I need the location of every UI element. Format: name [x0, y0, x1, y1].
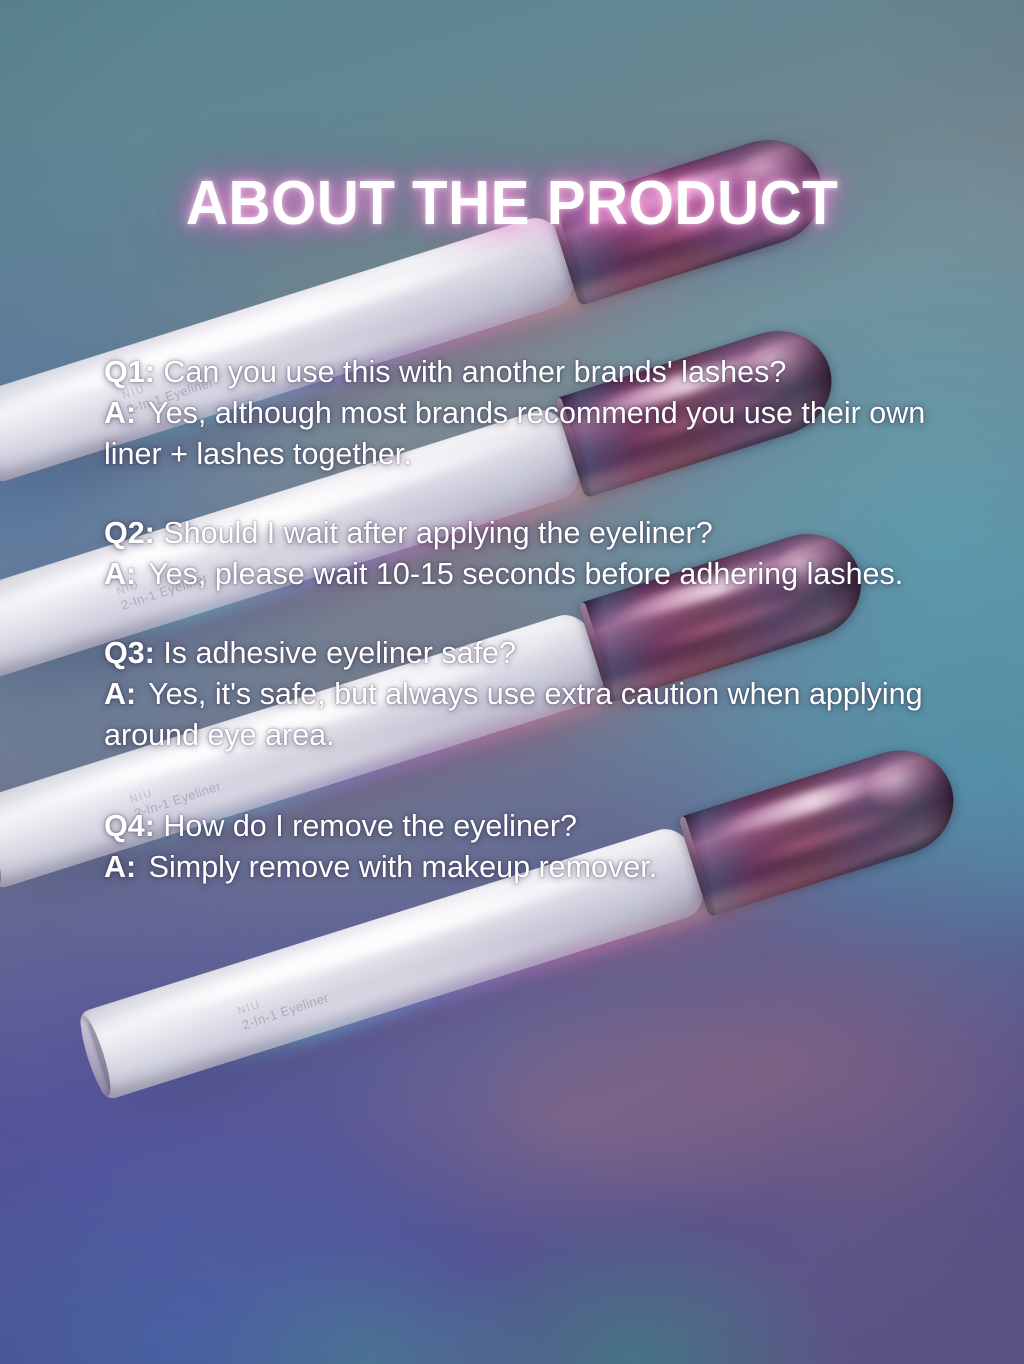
product-brand-text: NIU	[236, 978, 326, 1018]
barrel-seam	[0, 809, 2, 879]
faq-question-line: Q1: Can you use this with another brands…	[104, 352, 946, 393]
faq-answer-label: A:	[104, 557, 136, 591]
faq-list: Q1: Can you use this with another brands…	[104, 352, 946, 888]
barrel-end-cap	[0, 802, 6, 887]
barrel-highlight-lower	[158, 907, 638, 1069]
faq-answer-line: A: Yes, although most brands recommend y…	[104, 393, 946, 475]
barrel-end-cap	[0, 396, 5, 481]
faq-answer-line: A: Simply remove with makeup remover.	[104, 847, 946, 888]
product-name-text: 2-In-1 Eyeliner	[240, 990, 331, 1033]
faq-answer-label: A:	[104, 396, 136, 430]
faq-question-text: How do I remove the eyeliner?	[163, 809, 577, 843]
faq-item: Q3: Is adhesive eyeliner safe? A: Yes, i…	[104, 633, 946, 756]
barrel-end-cap	[75, 1013, 116, 1098]
faq-answer-text: Yes, it's safe, but always use extra cau…	[104, 677, 923, 752]
faq-question-text: Is adhesive eyeliner safe?	[163, 636, 516, 670]
faq-answer-text: Yes, please wait 10-15 seconds before ad…	[148, 557, 903, 591]
faq-item: Q1: Can you use this with another brands…	[104, 352, 946, 475]
faq-question-label: Q1:	[104, 355, 155, 389]
page-title: ABOUT THE PRODUCT	[31, 168, 994, 239]
product-label: NIU 2-In-1 Eyeliner	[236, 978, 331, 1033]
faq-answer-label: A:	[104, 850, 136, 884]
faq-question-label: Q3:	[104, 636, 155, 670]
faq-question-text: Can you use this with another brands' la…	[163, 355, 786, 389]
faq-item: Q2: Should I wait after applying the eye…	[104, 513, 946, 595]
barrel-seam	[87, 1020, 112, 1090]
faq-answer-label: A:	[104, 677, 136, 711]
faq-spacer	[104, 794, 946, 806]
faq-question-text: Should I wait after applying the eyeline…	[163, 516, 712, 550]
faq-answer-line: A: Yes, it's safe, but always use extra …	[104, 674, 946, 756]
faq-question-line: Q3: Is adhesive eyeliner safe?	[104, 633, 946, 674]
barrel-seam	[0, 403, 1, 473]
about-the-product-graphic: NIU 2-In-1 Eyeliner	[0, 0, 1024, 1364]
faq-answer-text: Simply remove with makeup remover.	[149, 850, 658, 884]
faq-question-line: Q4: How do I remove the eyeliner?	[104, 806, 946, 847]
faq-question-label: Q2:	[104, 516, 155, 550]
faq-answer-text: Yes, although most brands recommend you …	[104, 396, 925, 471]
faq-question-label: Q4:	[104, 809, 155, 843]
faq-answer-line: A: Yes, please wait 10-15 seconds before…	[104, 554, 946, 595]
faq-item: Q4: How do I remove the eyeliner? A: Sim…	[104, 806, 946, 888]
faq-question-line: Q2: Should I wait after applying the eye…	[104, 513, 946, 554]
